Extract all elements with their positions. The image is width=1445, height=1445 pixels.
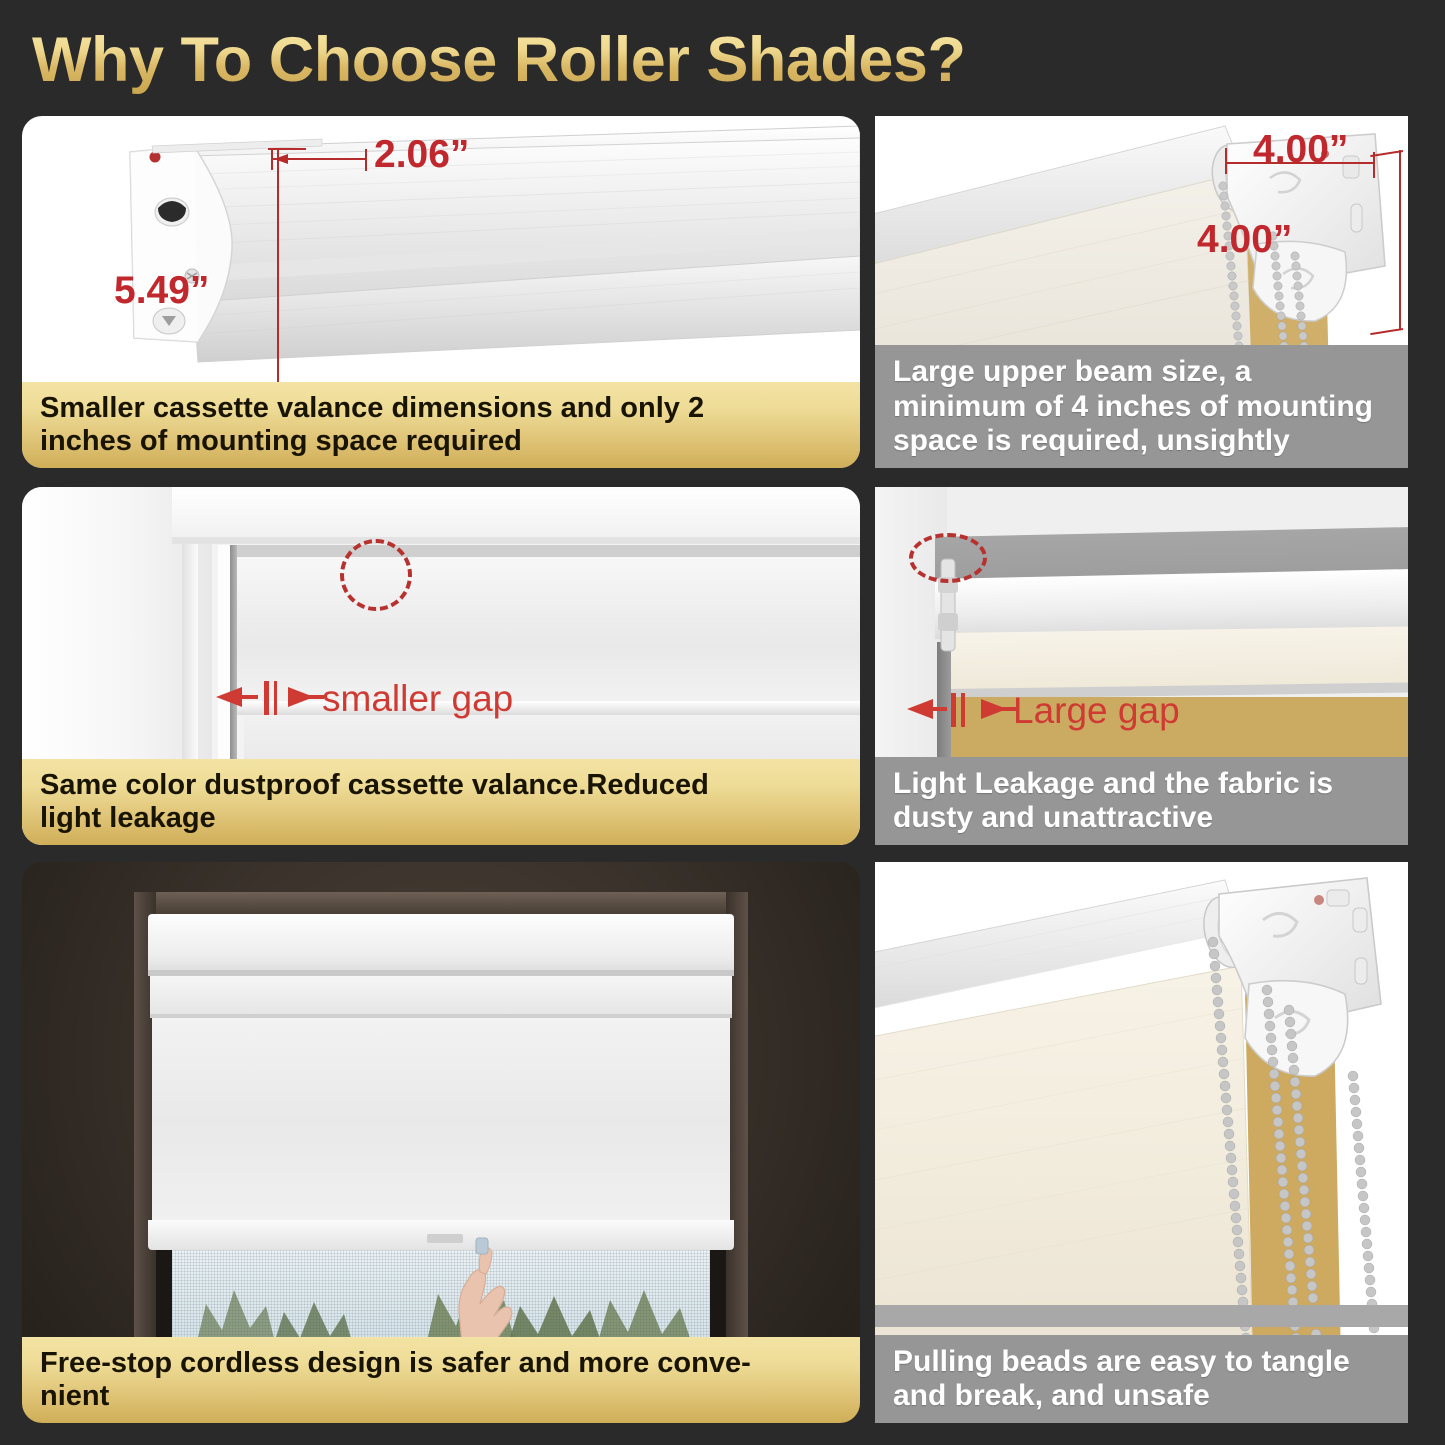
panel-5-caption: Free-stop cordless design is safer and m… — [22, 1337, 860, 1423]
panel-3-caption-line-1: Same color dustproof cassette valance.Re… — [40, 769, 846, 802]
panel-2-caption: Large upper beam size, a minimum of 4 in… — [875, 345, 1408, 468]
highlight-circle-large-gap — [909, 533, 987, 583]
panel-cassette-dimensions: 2.06” 5.49” Smaller cassette valance dim… — [22, 116, 860, 468]
panel-2-caption-line-1: Large upper beam size, a — [893, 355, 1394, 389]
panel-2-caption-line-3: space is required, unsightly — [893, 424, 1394, 458]
panel-large-beam: 4.00” 4.00” Large upper beam size, a min… — [875, 116, 1408, 468]
dimension-beam-height-label: 4.00” — [1197, 218, 1292, 262]
panel-4-caption-line-2: dusty and unattractive — [893, 801, 1394, 835]
panel-3-caption: Same color dustproof cassette valance.Re… — [22, 759, 860, 845]
panel-large-gap: Large gap Light Leakage and the fabric i… — [875, 487, 1408, 845]
panel-5-caption-line-2: nient — [40, 1380, 846, 1413]
dimension-width-label: 2.06” — [374, 133, 469, 177]
panel-1-caption-line-2: inches of mounting space required — [40, 425, 846, 458]
panel-4-caption: Light Leakage and the fabric is dusty an… — [875, 757, 1408, 845]
dimension-beam-width-label: 4.00” — [1253, 128, 1348, 172]
small-gap-label: smaller gap — [322, 678, 513, 720]
panel-6-caption-line-2: and break, and unsafe — [893, 1379, 1394, 1413]
panel-4-caption-line-1: Light Leakage and the fabric is — [893, 767, 1394, 801]
title-bar: Why To Choose Roller Shades? — [0, 0, 1445, 110]
panel-1-caption-line-1: Smaller cassette valance dimensions and … — [40, 392, 846, 425]
page-title: Why To Choose Roller Shades? — [32, 24, 965, 96]
panel-6-caption-line-1: Pulling beads are easy to tangle — [893, 1345, 1394, 1379]
panel-pulling-beads: Pulling beads are easy to tangle and bre… — [875, 862, 1408, 1423]
panel-2-caption-line-2: minimum of 4 inches of mounting — [893, 390, 1394, 424]
panel-5-caption-line-1: Free-stop cordless design is safer and m… — [40, 1347, 846, 1380]
dimension-height-label: 5.49” — [114, 269, 209, 313]
panel-cordless-design: Free-stop cordless design is safer and m… — [22, 862, 860, 1423]
large-gap-label: Large gap — [1013, 690, 1180, 732]
panel-6-caption: Pulling beads are easy to tangle and bre… — [875, 1335, 1408, 1423]
highlight-circle-small-gap — [340, 539, 412, 611]
panel-smaller-gap: smaller gap Same color dustproof cassett… — [22, 487, 860, 845]
panel-1-caption: Smaller cassette valance dimensions and … — [22, 382, 860, 468]
panel-3-caption-line-2: light leakage — [40, 802, 846, 835]
